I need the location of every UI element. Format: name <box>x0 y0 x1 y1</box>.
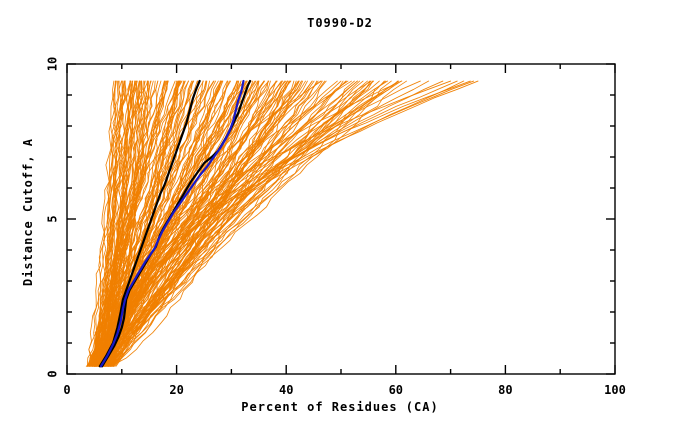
plot-canvas: 0204060801000510 <box>0 0 680 440</box>
y-tick-label: 5 <box>46 215 60 222</box>
curve-layer <box>86 81 478 366</box>
x-tick-label: 60 <box>389 383 403 397</box>
x-tick-label: 80 <box>498 383 512 397</box>
y-tick-label: 0 <box>46 370 60 377</box>
x-tick-label: 100 <box>604 383 626 397</box>
chart-root: T0990-D2 Percent of Residues (CA) Distan… <box>0 0 680 440</box>
x-tick-label: 0 <box>63 383 70 397</box>
y-tick-label: 10 <box>46 57 60 71</box>
x-tick-label: 20 <box>169 383 183 397</box>
x-tick-label: 40 <box>279 383 293 397</box>
